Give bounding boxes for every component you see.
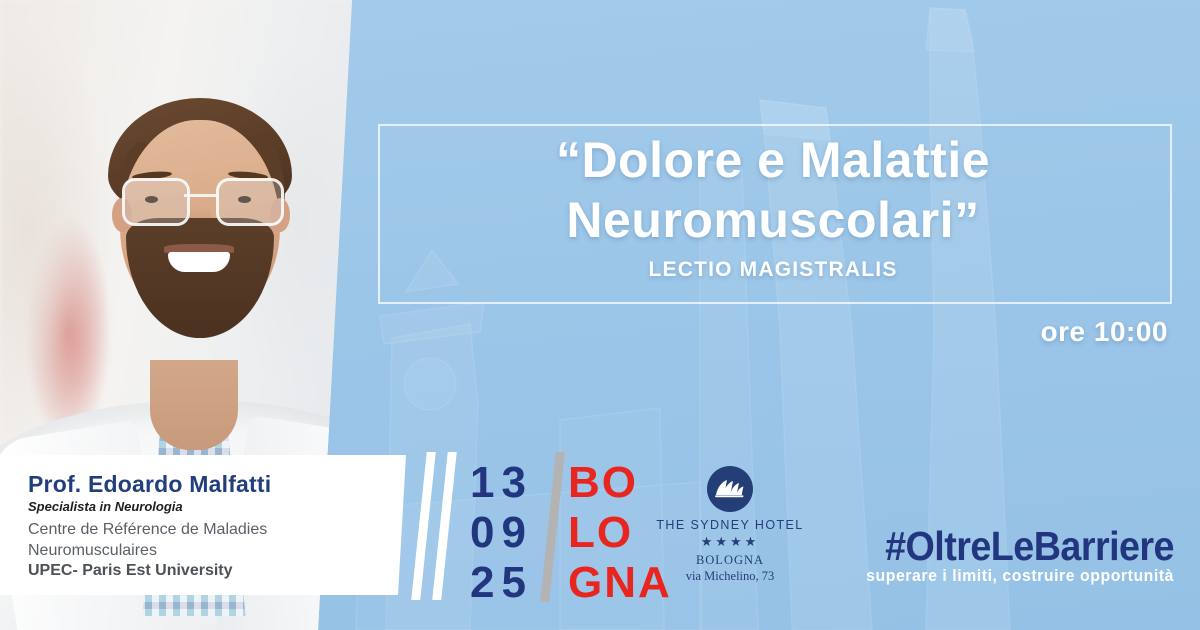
eyeglasses-icon [118, 178, 284, 222]
event-date-year: 25 [470, 558, 533, 608]
speaker-affiliation: Centre de Référence de Maladies Neuromus… [28, 519, 378, 561]
event-date-month: 09 [470, 508, 533, 558]
campaign-block: #OltreLeBarriere superare i limiti, cost… [843, 524, 1174, 586]
title-line-2: Neuromuscolari” [378, 190, 1168, 250]
sydney-opera-house-icon [707, 466, 753, 512]
event-time: ore 10:00 [1041, 316, 1168, 348]
campaign-hashtag: #OltreLeBarriere [869, 524, 1174, 568]
speaker-name: Prof. Edoardo Malfatti [28, 471, 271, 498]
campaign-tagline: superare i limiti, costruire opportunità [866, 566, 1174, 586]
event-date: 13 09 25 [470, 458, 533, 608]
title-subtitle: LECTIO MAGISTRALIS [378, 258, 1168, 282]
event-date-day: 13 [470, 458, 533, 508]
venue-name: THE SYDNEY HOTEL [655, 518, 805, 532]
venue-address: via Michelino, 73 [655, 569, 805, 584]
venue-star-rating: ★★★★ [655, 534, 805, 550]
venue-logo: THE SYDNEY HOTEL ★★★★ BOLOGNA via Michel… [655, 466, 805, 584]
speaker-university: UPEC- Paris Est University [28, 562, 233, 580]
speaker-info-panel: Prof. Edoardo Malfatti Specialista in Ne… [0, 455, 406, 595]
speaker-role: Specialista in Neurologia [28, 499, 183, 514]
title-line-1: “Dolore e Malattie [378, 130, 1168, 190]
event-poster: “Dolore e Malattie Neuromuscolari” LECTI… [0, 0, 1200, 630]
page-title: “Dolore e Malattie Neuromuscolari” [378, 130, 1168, 250]
venue-city: BOLOGNA [655, 553, 805, 568]
